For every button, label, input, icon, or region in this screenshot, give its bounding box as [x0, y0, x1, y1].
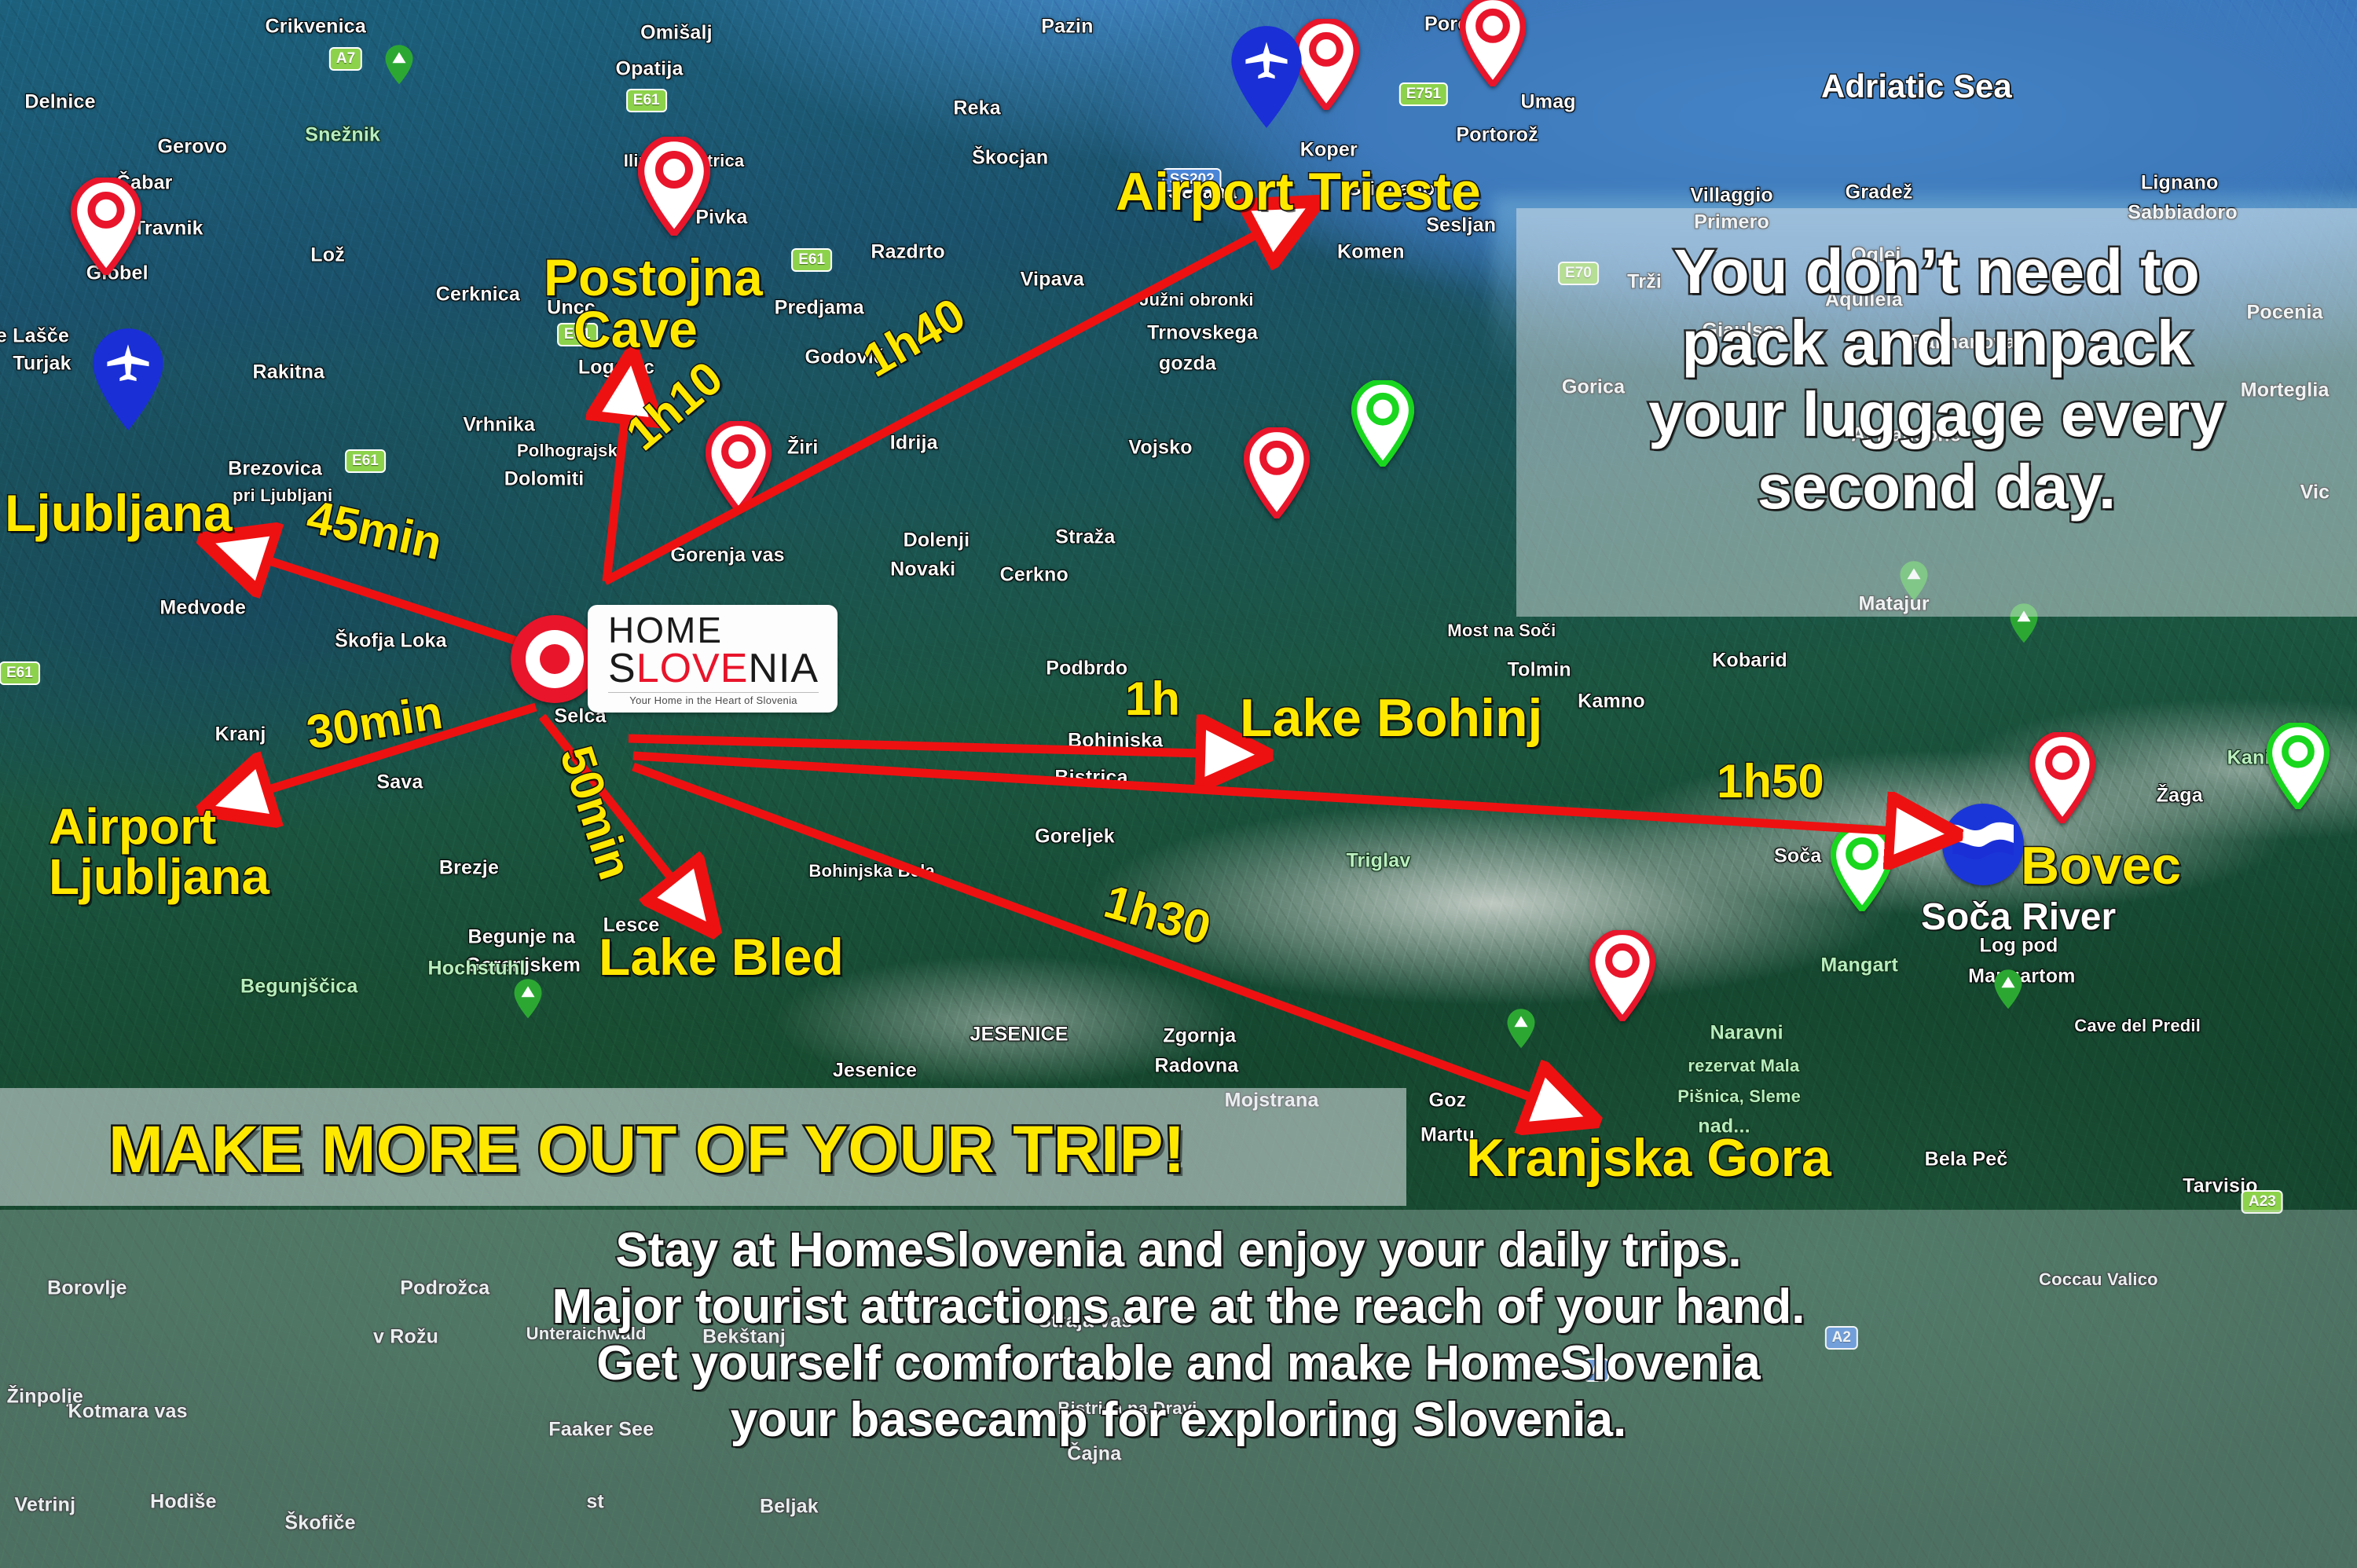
road-shield: A7	[329, 47, 362, 71]
logo-tagline: Your Home in the Heart of Slovenia	[608, 694, 819, 706]
label-kranjska-gora: Kranjska Gora	[1466, 1131, 1831, 1185]
map-label: Bohinjska	[1068, 729, 1163, 752]
map-label: Sava	[376, 771, 423, 794]
marker-postojna-cave[interactable]	[638, 137, 710, 236]
map-label: Gorenja vas	[670, 544, 784, 567]
label-airport-ljubljana: AirportLjubljana	[49, 801, 269, 902]
map-label: Pazin	[1041, 16, 1093, 38]
map-label: Villaggio	[1690, 184, 1773, 207]
map-label: Kamno	[1578, 690, 1645, 713]
label-soca-river: Soča River	[1921, 896, 2116, 939]
map-label: Pišnica, Sleme	[1677, 1086, 1801, 1107]
marker-bohinj-area[interactable]	[1244, 427, 1310, 518]
marker-bovec[interactable]	[2029, 732, 2095, 823]
overlay-text-luggage: You don’t need to pack and unpack your l…	[1540, 236, 2333, 522]
map-label: Portorož	[1456, 124, 1538, 147]
mountain-pin-sneznik[interactable]	[384, 44, 414, 89]
bottom-line-4: your basecamp for exploring Slovenia.	[0, 1392, 2357, 1449]
map-label: Vipava	[1021, 268, 1084, 291]
airport-trieste-plane-icon[interactable]	[1228, 24, 1305, 134]
logo-s: S	[608, 646, 636, 691]
soca-river-icon[interactable]	[1942, 804, 2024, 885]
label-postojna-cave: PostojnaCave	[544, 251, 763, 355]
map-label: Cave del Predil	[2074, 1016, 2201, 1036]
map-label: Lož	[310, 244, 345, 267]
map-label: Turjak	[13, 352, 71, 375]
road-shield: E61	[345, 449, 386, 473]
marker-triglav-park[interactable]	[1351, 380, 1414, 467]
logo-nia: NIA	[748, 646, 819, 691]
map-label: Most na Soči	[1447, 621, 1556, 641]
map-label: Begunje na	[468, 926, 576, 949]
map-label: Begunjščica	[240, 976, 357, 998]
map-label: gozda	[1159, 352, 1216, 375]
map-label: Vojsko	[1128, 436, 1192, 459]
map-label: Goz	[1429, 1090, 1467, 1112]
marker-lake-bled[interactable]	[706, 421, 772, 512]
map-label: Jesenice	[833, 1060, 917, 1083]
map-label: Škocjan	[972, 146, 1048, 169]
map-label: Mangart	[1820, 954, 1898, 977]
map-label: Žiri	[787, 436, 819, 459]
map-label: Trnovskega	[1147, 322, 1258, 345]
map-label: Logatec	[578, 357, 654, 379]
map-label: Triglav	[1346, 849, 1410, 872]
map-label: Reka	[953, 97, 1001, 119]
map-label: Cerkno	[1000, 564, 1069, 587]
bullseye-icon	[511, 615, 599, 703]
infographic-map: CrikvenicaOmišaljRekaDelniceSnežnikGerov…	[0, 0, 2357, 1568]
map-label: Gerovo	[158, 136, 228, 159]
map-label: Južni obronki	[1139, 290, 1254, 310]
logo-line-2: SLOVENIA	[608, 648, 819, 689]
label-lake-bohinj: Lake Bohinj	[1240, 691, 1542, 745]
map-label: Umag	[1521, 91, 1576, 114]
logo-line-1: HOME	[608, 613, 819, 648]
road-shield: E61	[0, 661, 40, 685]
map-label: Bohinjska Bela	[808, 861, 935, 881]
map-label: Tolmin	[1508, 658, 1571, 681]
map-label: Predjama	[775, 296, 864, 319]
marker-portoroz[interactable]	[1460, 0, 1526, 86]
marker-kranjska-gora[interactable]	[1589, 930, 1655, 1021]
logo-love: LOVE	[636, 646, 749, 691]
map-label: Zgornja	[1163, 1025, 1236, 1048]
map-label: Razdrto	[871, 241, 944, 264]
duration-bovec: 1h50	[1717, 754, 1824, 808]
map-label: JESENICE	[970, 1024, 1069, 1046]
logo-divider	[608, 692, 819, 693]
map-label: Kranj	[215, 723, 266, 746]
label-adriatic-sea: Adriatic Sea	[1821, 68, 2012, 105]
map-label: Soča	[1774, 844, 1822, 867]
map-label: Rakitna	[252, 361, 324, 384]
map-label: Bela Peč	[1925, 1148, 2008, 1171]
map-label: Goreljek	[1035, 825, 1115, 848]
overlay-text-bottom: Stay at HomeSlovenia and enjoy your dail…	[0, 1222, 2357, 1449]
map-label: Travnik	[134, 217, 203, 240]
bottom-line-2: Major tourist attractions are at the rea…	[0, 1279, 2357, 1335]
label-lake-bled: Lake Bled	[599, 931, 844, 983]
mountain-pin-triglav-peak[interactable]	[1506, 1008, 1536, 1053]
map-label: Polhograjski	[517, 441, 622, 461]
map-label: Brezovica	[228, 457, 322, 480]
marker-kanin[interactable]	[2267, 723, 2330, 809]
map-label: Podbrdo	[1046, 657, 1127, 680]
map-label: Gradež	[1846, 181, 1913, 203]
marker-ljubljana[interactable]	[71, 178, 141, 275]
airport-ljubljana-plane-icon[interactable]	[90, 327, 167, 436]
bottom-line-3: Get yourself comfortable and make HomeSl…	[0, 1335, 2357, 1392]
mountain-pin-hochstuhl[interactable]	[513, 978, 543, 1023]
map-label: rezervat Mala	[1688, 1056, 1799, 1076]
map-label: Idrija	[890, 432, 938, 455]
road-shield: E751	[1399, 82, 1448, 106]
map-label: Opatija	[615, 57, 683, 80]
map-label: Hochstuhl	[427, 958, 525, 980]
map-label: Komen	[1337, 241, 1405, 264]
map-label: Radovna	[1154, 1055, 1238, 1078]
map-label: Snežnik	[305, 124, 380, 147]
bottom-line-1: Stay at HomeSlovenia and enjoy your dail…	[0, 1222, 2357, 1279]
road-shield: E61	[791, 248, 832, 272]
map-label: Novaki	[890, 558, 955, 581]
map-label: Dolenji	[904, 529, 970, 552]
map-label: Kobarid	[1712, 650, 1787, 672]
mountain-pin-log[interactable]	[1993, 969, 2023, 1013]
map-label: Škofja Loka	[335, 630, 447, 653]
label-airport-trieste: Airport Trieste	[1116, 165, 1481, 218]
map-label: Lignano	[2141, 172, 2219, 195]
map-label: Dolomiti	[504, 467, 585, 490]
homeslovenia-logo[interactable]: HOME SLOVENIA Your Home in the Heart of …	[511, 605, 838, 713]
logo-card: HOME SLOVENIA Your Home in the Heart of …	[588, 605, 838, 713]
map-label: ke Lašče	[0, 325, 69, 348]
map-label: Crikvenica	[266, 16, 366, 38]
map-label: Delnice	[24, 91, 95, 114]
map-label: Žaga	[2157, 785, 2203, 808]
map-label: Cerknica	[436, 283, 520, 306]
headline-make-more-out-of-your-trip: MAKE MORE OUT OF YOUR TRIP!	[108, 1112, 1185, 1188]
label-bovec: Bovec	[2021, 839, 2181, 892]
label-ljubljana: Ljubljana	[5, 487, 233, 539]
map-label: Naravni	[1710, 1022, 1783, 1045]
marker-mangart[interactable]	[1831, 825, 1893, 911]
map-label: Medvode	[159, 597, 246, 620]
map-label: Brezje	[439, 857, 499, 880]
map-label: Vrhnika	[463, 414, 535, 437]
map-label: Straža	[1055, 526, 1115, 549]
map-label: Koper	[1300, 139, 1358, 162]
duration-lake-bohinj: 1h	[1125, 672, 1180, 726]
map-label: Bistrica	[1054, 767, 1127, 789]
road-shield: E61	[626, 89, 667, 112]
map-label: Omišalj	[640, 22, 713, 45]
